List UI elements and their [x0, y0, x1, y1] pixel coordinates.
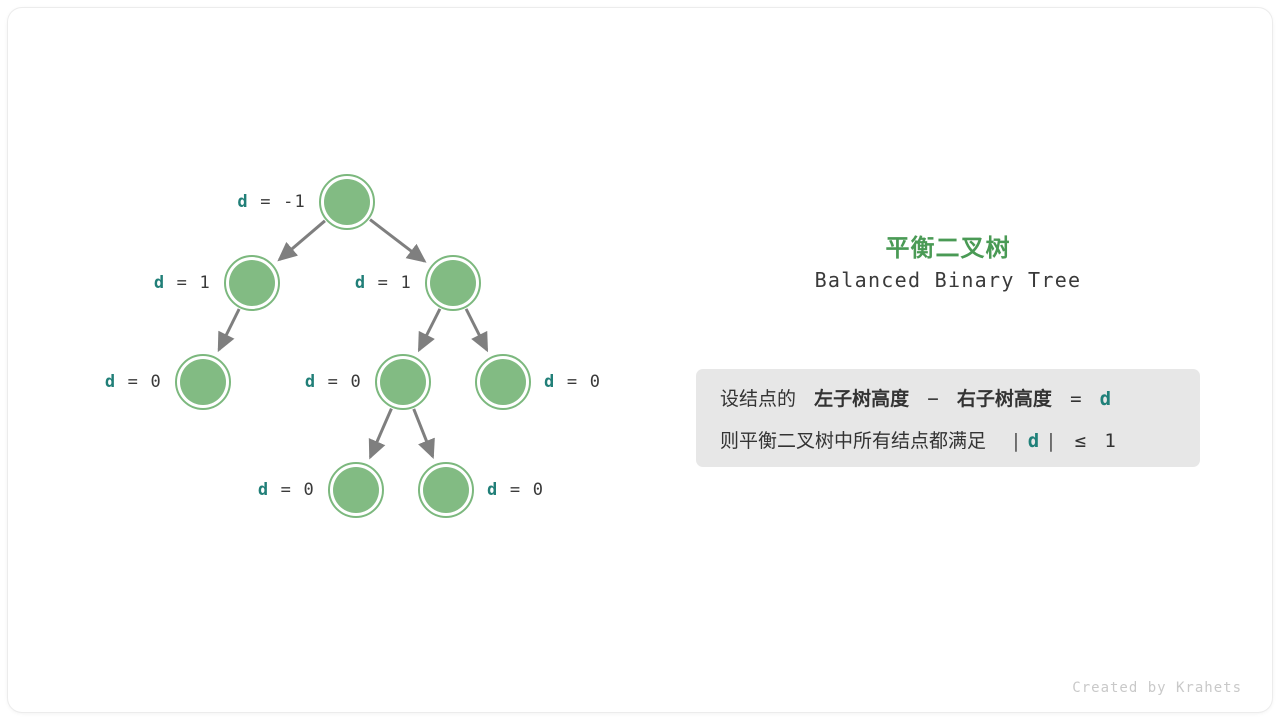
equals-sign: =	[1070, 388, 1081, 410]
node-label-variable: d	[544, 372, 555, 392]
node-label-variable: d	[237, 192, 248, 212]
node-balance-label: d = 0	[105, 372, 162, 392]
node-label-value: = -1	[249, 192, 306, 212]
definition-line-2: 则平衡二叉树中所有结点都满足 | d | ≤ 1	[720, 426, 1116, 453]
node-label-value: = 1	[165, 273, 211, 293]
credit-text: Created by Krahets	[1072, 680, 1242, 696]
node-label-variable: d	[355, 273, 366, 293]
less-equal-sign: ≤	[1075, 430, 1086, 452]
term-right-subtree-height: 右子树高度	[957, 388, 1052, 410]
page-subtitle: Balanced Binary Tree	[696, 268, 1200, 292]
diagram-canvas: d = -1d = 1d = 1d = 0d = 0d = 0d = 0d = …	[0, 0, 1280, 720]
node-balance-label: d = 0	[487, 480, 544, 500]
node-balance-label: d = 1	[154, 273, 211, 293]
node-label-variable: d	[154, 273, 165, 293]
definition-box: 设结点的 左子树高度 − 右子树高度 = d 则平衡二叉树中所有结点都满足 | …	[696, 369, 1200, 467]
condition-prefix: 则平衡二叉树中所有结点都满足	[720, 430, 986, 452]
node-label-variable: d	[258, 480, 269, 500]
bound-value: 1	[1104, 430, 1115, 452]
node-label-value: = 0	[316, 372, 362, 392]
node-label-variable: d	[305, 372, 316, 392]
abs-bar-open: |	[1010, 430, 1021, 452]
node-label-variable: d	[487, 480, 498, 500]
node-label-value: = 0	[555, 372, 601, 392]
node-balance-label: d = 1	[355, 273, 412, 293]
abs-bar-close: |	[1045, 430, 1056, 452]
node-label-value: = 0	[116, 372, 162, 392]
node-label-value: = 0	[269, 480, 315, 500]
content-card	[8, 8, 1272, 712]
node-label-value: = 0	[498, 480, 544, 500]
variable-d: d	[1100, 388, 1111, 410]
variable-d-abs: d	[1028, 430, 1039, 452]
node-balance-label: d = 0	[305, 372, 362, 392]
node-balance-label: d = -1	[237, 192, 306, 212]
node-label-value: = 1	[366, 273, 412, 293]
node-balance-label: d = 0	[258, 480, 315, 500]
term-left-subtree-height: 左子树高度	[814, 388, 909, 410]
definition-line-1: 设结点的 左子树高度 − 右子树高度 = d	[720, 384, 1111, 411]
minus-sign: −	[927, 388, 938, 410]
definition-prefix: 设结点的	[720, 388, 796, 410]
node-label-variable: d	[105, 372, 116, 392]
node-balance-label: d = 0	[544, 372, 601, 392]
page-title: 平衡二叉树	[696, 228, 1200, 263]
